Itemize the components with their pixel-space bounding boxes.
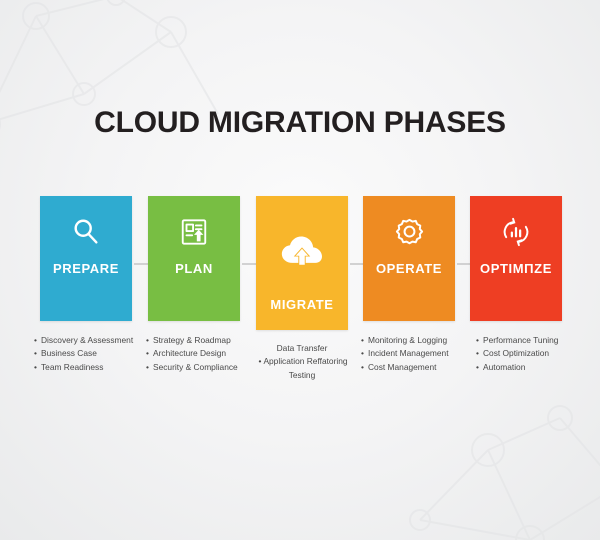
list-item: •Performance Tuning — [476, 334, 598, 347]
list-item: Data Transfer — [247, 342, 357, 355]
phase-label-plan: PLAN — [148, 261, 240, 276]
phase-migrate[interactable]: MIGRATE Data Transfer •Application Reffa… — [256, 196, 348, 330]
phase-box-prepare[interactable]: PREPARE — [40, 196, 132, 321]
phase-bullets-prepare: •Discovery & Assessment •Business Case •… — [34, 334, 156, 374]
phase-label-migrate: MIGRATE — [256, 297, 348, 312]
list-item: •Incident Management — [361, 347, 483, 360]
list-item: •Business Case — [34, 347, 156, 360]
phase-flow: PREPARE •Discovery & Assessment •Busines… — [0, 196, 600, 386]
list-item: •Monitoring & Logging — [361, 334, 483, 347]
phase-optimize[interactable]: OPTIMΠZE •Performance Tuning •Cost Optim… — [470, 196, 562, 321]
phase-box-operate[interactable]: OPERATE — [363, 196, 455, 321]
phase-label-operate: OPERATE — [363, 261, 455, 276]
phase-bullets-optimize: •Performance Tuning •Cost Optimization •… — [476, 334, 598, 374]
list-item: •Automation — [476, 361, 598, 374]
list-item: •Cost Optimization — [476, 347, 598, 360]
phase-plan[interactable]: PLAN •Strategy & Roadmap •Architecture D… — [148, 196, 240, 321]
bar-chart-refresh-icon — [470, 210, 562, 254]
phase-box-migrate[interactable]: MIGRATE — [256, 196, 348, 330]
phase-bullets-migrate: Data Transfer •Application Reffatoring T… — [247, 342, 357, 382]
network-nodes-top-left-icon — [0, 0, 226, 164]
list-item: •Application Reffatoring — [247, 355, 357, 368]
phase-operate[interactable]: OPERATE •Monitoring & Logging •Incident … — [363, 196, 455, 321]
cloud-upload-icon — [256, 228, 348, 274]
phase-prepare[interactable]: PREPARE •Discovery & Assessment •Busines… — [40, 196, 132, 321]
phase-bullets-operate: •Monitoring & Logging •Incident Manageme… — [361, 334, 483, 374]
list-item: •Discovery & Assessment — [34, 334, 156, 347]
list-item: Testing — [247, 369, 357, 382]
phase-label-prepare: PREPARE — [40, 261, 132, 276]
document-upload-icon — [148, 210, 240, 254]
phase-label-optimize: OPTIMΠZE — [470, 261, 562, 276]
page-title: CLOUD MIGRATION PHASES — [0, 108, 600, 138]
phase-box-optimize[interactable]: OPTIMΠZE — [470, 196, 562, 321]
list-item: •Team Readiness — [34, 361, 156, 374]
phase-box-plan[interactable]: PLAN — [148, 196, 240, 321]
list-item: •Cost Management — [361, 361, 483, 374]
gear-icon — [363, 210, 455, 254]
slide-canvas: CLOUD MIGRATION PHASES PREPARE •Discover… — [0, 0, 600, 540]
magnifier-icon — [40, 210, 132, 254]
network-nodes-bottom-right-icon — [380, 390, 600, 540]
